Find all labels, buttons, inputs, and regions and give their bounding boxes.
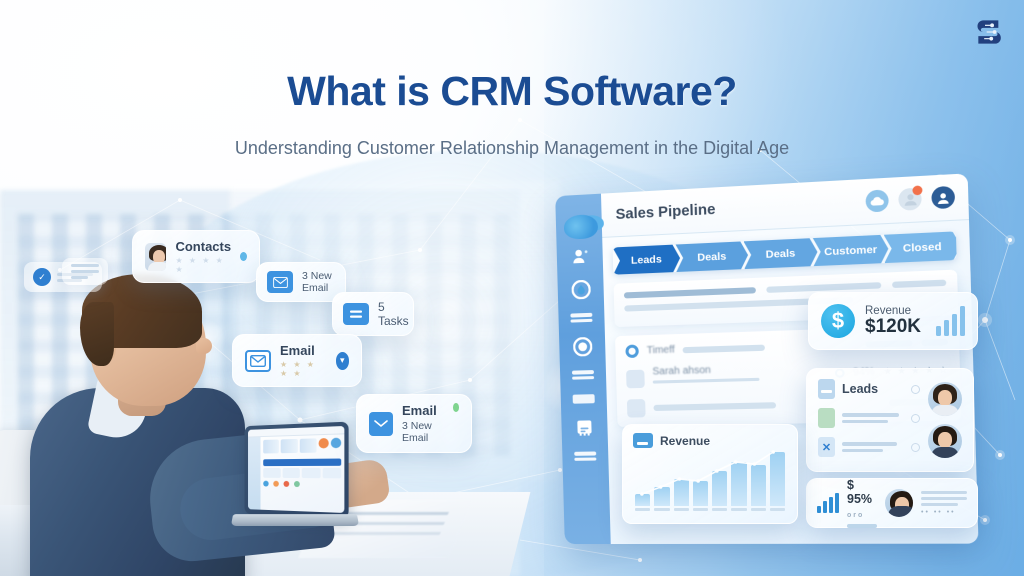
revenue-chart-card[interactable]: Revenue [622, 424, 798, 524]
close-icon: ✕ [818, 437, 835, 457]
contacts-icon[interactable] [569, 247, 591, 266]
revenue-sparkline [936, 306, 965, 336]
bar-icon[interactable] [573, 394, 595, 404]
notes-mini-card[interactable] [62, 258, 108, 285]
document-icon[interactable] [573, 418, 595, 436]
email-card-title: Email [280, 343, 327, 358]
pipeline-stage-leads[interactable]: Leads [613, 244, 681, 274]
poster-canvas: What is CRM Software? Understanding Cust… [0, 0, 1024, 576]
unread-dot-icon [453, 403, 459, 412]
new-email-mini-card[interactable]: 3 New Email [256, 262, 346, 302]
laptop-keyboard-base [231, 514, 359, 526]
revenue-bar-chart [633, 450, 787, 506]
square-icon [627, 399, 646, 418]
conversion-stats-card[interactable]: $ 95% oro •• •• •• [806, 478, 978, 528]
status-ring-icon [911, 443, 920, 452]
email-count-subtitle: 3 New Email [402, 420, 444, 444]
pipeline-stage-deals-2[interactable]: Deals [743, 238, 817, 269]
laptop [232, 424, 358, 542]
leads-kpi-card[interactable]: Leads ✕ [806, 368, 974, 472]
avatar [885, 489, 913, 517]
stats-detail-lines: •• •• •• [921, 491, 967, 516]
chart-bar [693, 481, 708, 506]
contacts-card-title: Contacts [175, 239, 231, 254]
new-email-label: 3 New Email [302, 270, 335, 294]
envelope-icon [267, 271, 293, 293]
list-icon[interactable] [574, 451, 596, 460]
chart-bar [770, 452, 785, 506]
circle-icon[interactable] [571, 337, 593, 356]
row-name: Sarah ahson [652, 361, 826, 377]
avatar [928, 382, 962, 416]
chart-bar [654, 487, 669, 506]
chart-axis-labels [633, 506, 787, 511]
revenue-value: $120K [865, 317, 921, 337]
chart-bar [712, 471, 727, 506]
tasks-label: 5 Tasks [378, 300, 409, 328]
tasks-card[interactable]: 5 Tasks [332, 292, 414, 336]
chart-bar [635, 494, 650, 506]
email-card-stars: ★ ★ ★ ★ ★ [280, 360, 327, 378]
envelope-filled-icon [369, 412, 393, 436]
pipeline-stage-closed[interactable]: Closed [884, 231, 957, 263]
list-item[interactable]: ✕ [818, 437, 920, 457]
notification-badge [912, 185, 922, 195]
chart-bar [731, 462, 746, 506]
brand-logo-icon[interactable] [970, 12, 1010, 52]
email-count-card[interactable]: Email 3 New Email [356, 394, 472, 453]
status-dot-icon [240, 252, 247, 261]
envelope-outline-icon [245, 350, 271, 372]
notification-avatar-icon[interactable] [898, 188, 922, 211]
leads-label: Leads [842, 382, 878, 396]
status-ring-icon [911, 414, 920, 423]
chart-bar [674, 479, 689, 506]
tasks-list-icon [343, 303, 369, 325]
square-icon [626, 369, 645, 388]
hair-side [80, 302, 114, 366]
chevron-down-icon[interactable]: ▾ [336, 352, 349, 370]
page-subtitle: Understanding Customer Relationship Mana… [0, 138, 1024, 159]
page-title: What is CRM Software? [0, 68, 1024, 115]
row-label: Timeff [647, 344, 675, 356]
contact-avatar [145, 243, 166, 271]
list-item[interactable]: Leads [818, 379, 920, 399]
email-rated-card[interactable]: Email ★ ★ ★ ★ ★ ▾ [232, 334, 362, 387]
avatar [928, 424, 962, 458]
circle-icon [625, 344, 639, 358]
pipeline-stage-deals-1[interactable]: Deals [676, 241, 749, 272]
status-ring-icon [911, 385, 920, 394]
dollar-icon: $ [821, 304, 855, 338]
chart-title: Revenue [660, 434, 710, 448]
list-icon[interactable] [572, 370, 594, 380]
laptop-lid [245, 422, 349, 519]
document-icon [818, 379, 835, 399]
list-icon[interactable] [570, 313, 592, 323]
cloud-icon[interactable] [865, 189, 889, 212]
chart-icon [633, 433, 653, 448]
droplet-icon[interactable] [569, 280, 591, 299]
list-item[interactable] [818, 408, 920, 428]
revenue-kpi-card[interactable]: $ Revenue $120K [808, 292, 978, 350]
pipeline-stage-customer[interactable]: Customer [813, 235, 889, 267]
email-count-title: Email [402, 403, 444, 418]
stats-sub: oro [847, 512, 864, 519]
nose [196, 338, 212, 354]
user-avatar-icon[interactable] [931, 186, 955, 209]
sales-pipeline-tabs[interactable]: Leads Deals Deals Customer Closed [613, 231, 957, 274]
green-status-icon [818, 408, 835, 428]
laptop-screen [248, 426, 344, 513]
dashboard-title: Sales Pipeline [615, 201, 715, 222]
check-icon: ✓ [33, 268, 51, 286]
contacts-card-stars: ★ ★ ★ ★ ★ [175, 256, 231, 274]
contacts-card[interactable]: Contacts ★ ★ ★ ★ ★ [132, 230, 260, 283]
bar-chart-icon [817, 493, 839, 513]
stats-value: $ 95% [847, 478, 872, 506]
chart-bar [751, 465, 766, 506]
